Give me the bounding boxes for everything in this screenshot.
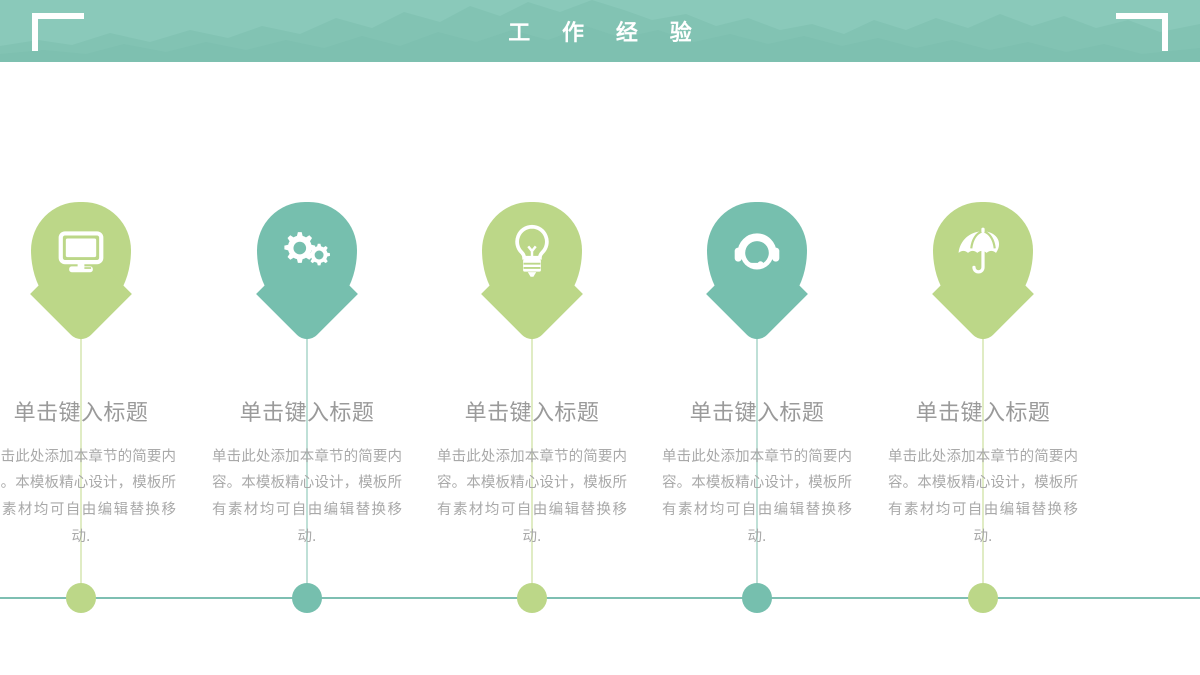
lightbulb-icon bbox=[482, 202, 582, 302]
item-body-1: 单击此处添加本章节的简要内容。本模板精心设计，模板所有素材均可自由编辑替换移动. bbox=[0, 444, 194, 551]
timeline-item-3[interactable]: 单击键入标题 单击此处添加本章节的简要内容。本模板精心设计，模板所有素材均可自由… bbox=[419, 0, 645, 675]
pin-marker-2[interactable] bbox=[257, 202, 357, 316]
corner-bracket-left bbox=[32, 13, 84, 51]
timeline-dot-4[interactable] bbox=[742, 583, 772, 613]
item-title-2: 单击键入标题 bbox=[194, 400, 420, 428]
timeline-dot-3[interactable] bbox=[517, 583, 547, 613]
text-block-4: 单击键入标题 单击此处添加本章节的简要内容。本模板精心设计，模板所有素材均可自由… bbox=[644, 400, 870, 551]
item-body-2: 单击此处添加本章节的简要内容。本模板精心设计，模板所有素材均可自由编辑替换移动. bbox=[194, 444, 420, 551]
pin-marker-3[interactable] bbox=[482, 202, 582, 316]
item-title-3: 单击键入标题 bbox=[419, 400, 645, 428]
item-title-1: 单击键入标题 bbox=[0, 400, 194, 428]
timeline-dot-2[interactable] bbox=[292, 583, 322, 613]
item-body-5: 单击此处添加本章节的简要内容。本模板精心设计，模板所有素材均可自由编辑替换移动. bbox=[870, 444, 1096, 551]
item-body-4: 单击此处添加本章节的简要内容。本模板精心设计，模板所有素材均可自由编辑替换移动. bbox=[644, 444, 870, 551]
item-body-3: 单击此处添加本章节的简要内容。本模板精心设计，模板所有素材均可自由编辑替换移动. bbox=[419, 444, 645, 551]
corner-bracket-right-vertical bbox=[1162, 13, 1168, 51]
timeline-item-5[interactable]: 单击键入标题 单击此处添加本章节的简要内容。本模板精心设计，模板所有素材均可自由… bbox=[870, 0, 1096, 675]
text-block-5: 单击键入标题 单击此处添加本章节的简要内容。本模板精心设计，模板所有素材均可自由… bbox=[870, 400, 1096, 551]
timeline-axis bbox=[0, 597, 1200, 599]
corner-bracket-right-horizontal bbox=[1116, 13, 1168, 19]
corner-bracket-left-horizontal bbox=[32, 13, 84, 19]
header-bar: 工 作 经 验 bbox=[0, 0, 1200, 62]
page-title: 工 作 经 验 bbox=[0, 0, 1200, 62]
pin-marker-1[interactable] bbox=[31, 202, 131, 316]
timeline-dot-1[interactable] bbox=[66, 583, 96, 613]
pin-marker-5[interactable] bbox=[933, 202, 1033, 316]
corner-bracket-left-vertical bbox=[32, 13, 38, 51]
text-block-1: 单击键入标题 单击此处添加本章节的简要内容。本模板精心设计，模板所有素材均可自由… bbox=[0, 400, 194, 551]
timeline-item-2[interactable]: 单击键入标题 单击此处添加本章节的简要内容。本模板精心设计，模板所有素材均可自由… bbox=[194, 0, 420, 675]
gears-icon bbox=[257, 202, 357, 302]
text-block-3: 单击键入标题 单击此处添加本章节的简要内容。本模板精心设计，模板所有素材均可自由… bbox=[419, 400, 645, 551]
pin-marker-4[interactable] bbox=[707, 202, 807, 316]
headset-icon bbox=[707, 202, 807, 302]
item-title-5: 单击键入标题 bbox=[870, 400, 1096, 428]
text-block-2: 单击键入标题 单击此处添加本章节的简要内容。本模板精心设计，模板所有素材均可自由… bbox=[194, 400, 420, 551]
corner-bracket-right bbox=[1116, 13, 1168, 51]
umbrella-icon bbox=[933, 202, 1033, 302]
item-title-4: 单击键入标题 bbox=[644, 400, 870, 428]
timeline-item-1[interactable]: 单击键入标题 单击此处添加本章节的简要内容。本模板精心设计，模板所有素材均可自由… bbox=[0, 0, 194, 675]
timeline-dot-5[interactable] bbox=[968, 583, 998, 613]
timeline-item-4[interactable]: 单击键入标题 单击此处添加本章节的简要内容。本模板精心设计，模板所有素材均可自由… bbox=[644, 0, 870, 675]
slide-canvas: 工 作 经 验 单击键入标题 单击此处添加本章节的简要内容。本模板精 bbox=[0, 0, 1200, 675]
monitor-icon bbox=[31, 202, 131, 302]
